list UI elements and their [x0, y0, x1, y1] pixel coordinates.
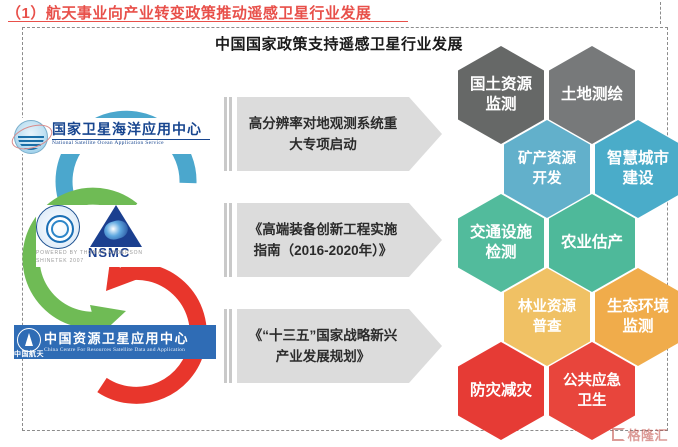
application-honeycomb: 国土资源监测 土地测绘 矿产资源开发 智慧城市建设 交通设施检测 农业估产 林业…	[452, 46, 668, 438]
policy-arrow-1-bars	[224, 97, 235, 171]
policy-1-text: 高分辨率对地观测系统重大专项启动	[245, 113, 401, 155]
page-title: （1）航天事业向产业转变政策推动遥感卫星行业发展	[6, 2, 371, 23]
policy-arrow-2-label: 《高端装备创新工程实施指南（2016-2020年）》	[237, 203, 409, 277]
policy-arrow-2-head	[409, 203, 442, 277]
logo-nsmc: NSMC POWERED BY THOMAS ANDERSON SHINETEK…	[36, 205, 186, 267]
cresda-mark-text: 中国航天	[14, 349, 44, 359]
policy-arrow-1-head	[409, 97, 442, 171]
policy-arrow-2: 《高端装备创新工程实施指南（2016-2020年）》	[224, 203, 442, 277]
watermark-text: 格隆汇	[627, 425, 668, 444]
policy-3-text: 《“十三五”国家战略新兴产业发展规划》	[245, 325, 401, 367]
logo-nsoas: 国家卫星海洋应用中心 National Satellite Ocean Appl…	[14, 118, 214, 154]
watermark-logo-icon	[612, 428, 625, 441]
nsmc-subtext: POWERED BY THOMAS ANDERSON SHINETEK 2007	[36, 249, 143, 265]
policy-2-text: 《高端装备创新工程实施指南（2016-2020年）》	[245, 219, 401, 261]
nsmc-seal-icon	[36, 205, 80, 249]
app-hex-label: 矿产资源开发	[504, 149, 590, 189]
app-hex-label: 国土资源监测	[458, 75, 544, 115]
nsmc-subtext-line2: SHINETEK 2007	[36, 257, 143, 265]
policy-arrow-2-bars	[224, 203, 235, 277]
policy-arrow-3: 《“十三五”国家战略新兴产业发展规划》	[224, 309, 442, 383]
policy-arrow-1: 高分辨率对地观测系统重大专项启动	[224, 97, 442, 171]
cresda-name-en: China Centre For Resources Satellite Dat…	[44, 347, 185, 353]
title-underline	[8, 21, 408, 22]
app-hex-label: 交通设施检测	[458, 223, 544, 263]
logo-cresda: 中国航天 中国资源卫星应用中心 China Centre For Resourc…	[14, 325, 216, 359]
cresda-name-cn: 中国资源卫星应用中心	[44, 328, 189, 347]
app-hex-label: 林业资源普查	[504, 297, 590, 337]
nsoas-name-en: National Satellite Ocean Application Ser…	[52, 140, 164, 146]
policy-arrow-3-bars	[224, 309, 235, 383]
app-hex-label: 生态环境监测	[595, 297, 678, 337]
app-hex-label: 农业估产	[551, 233, 633, 253]
slide-root: （1）航天事业向产业转变政策推动遥感卫星行业发展 中国国家政策支持遥感卫星行业发…	[0, 0, 678, 447]
policy-arrow-3-label: 《“十三五”国家战略新兴产业发展规划》	[237, 309, 409, 383]
watermark: 格隆汇	[612, 425, 668, 444]
frame-corner-tick	[660, 2, 662, 24]
nsmc-subtext-line1: POWERED BY THOMAS ANDERSON	[36, 249, 143, 257]
policy-arrow-3-head	[409, 309, 442, 383]
app-hex-label: 土地测绘	[551, 85, 633, 105]
app-hex-label: 公共应急卫生	[549, 371, 635, 411]
policy-arrow-1-label: 高分辨率对地观测系统重大专项启动	[237, 97, 409, 171]
app-hex-label: 智慧城市建设	[595, 149, 678, 189]
app-hex-label: 防灾减灾	[460, 381, 542, 401]
nsoas-name-cn: 国家卫星海洋应用中心	[52, 119, 202, 139]
